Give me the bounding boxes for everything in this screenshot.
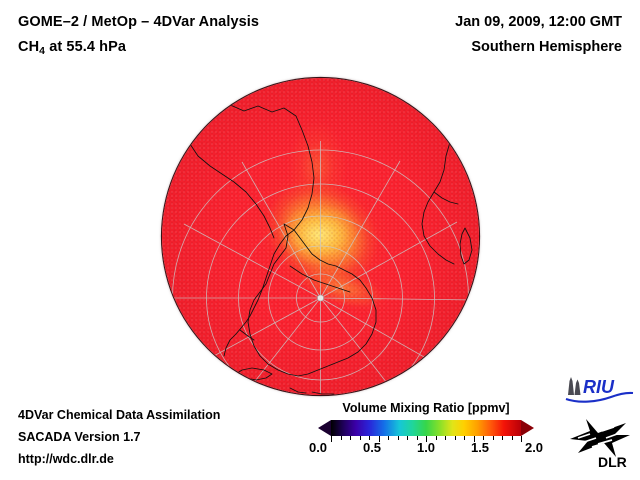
colorbar-extend-low-arrow (318, 420, 331, 436)
header-right: Jan 09, 2009, 12:00 GMT Southern Hemisph… (455, 14, 622, 55)
colorbar-tick-label: 2.0 (525, 440, 543, 455)
colorbar-gradient (331, 420, 521, 436)
graticule (165, 141, 476, 395)
colorbar-minor-tick (407, 436, 408, 440)
dlr-logo: DLR (568, 413, 634, 469)
colorbar-minor-tick (388, 436, 389, 440)
colorbar-legend: Volume Mixing Ratio [ppmv] 0.00.51.01.52… (318, 401, 534, 458)
pressure-level-label: at 55.4 hPa (45, 39, 126, 55)
colorbar-minor-tick (464, 436, 465, 440)
colorbar-minor-tick (341, 436, 342, 440)
riu-tower-icon (568, 377, 581, 395)
colorbar-minor-tick (350, 436, 351, 440)
hemisphere-label: Southern Hemisphere (455, 39, 622, 55)
species-label: CH (18, 39, 39, 55)
title-line-2: CH4 at 55.4 hPa (18, 39, 259, 57)
colorbar-minor-tick (436, 436, 437, 440)
south-pole-marker (317, 295, 323, 301)
map-overlay (162, 78, 479, 395)
colorbar-minor-tick (398, 436, 399, 440)
footer-line-1: 4DVar Chemical Data Assimilation (18, 404, 220, 426)
colorbar-title: Volume Mixing Ratio [ppmv] (318, 401, 534, 415)
timestamp-label: Jan 09, 2009, 12:00 GMT (455, 14, 622, 30)
colorbar-minor-tick (512, 436, 513, 440)
riu-logo: RIU (563, 373, 635, 403)
colorbar-minor-tick (360, 436, 361, 440)
riu-wordmark: RIU (583, 377, 615, 397)
footer-text: 4DVar Chemical Data Assimilation SACADA … (18, 404, 220, 470)
colorbar-tick-label: 0.0 (309, 440, 327, 455)
colorbar-tick-label: 1.0 (417, 440, 435, 455)
colorbar-minor-tick (369, 436, 370, 440)
colorbar-minor-tick (455, 436, 456, 440)
colorbar-minor-tick (417, 436, 418, 440)
colorbar-minor-tick (502, 436, 503, 440)
colorbar-tick-label: 0.5 (363, 440, 381, 455)
colorbar-row (318, 419, 534, 438)
colorbar-extend-high-arrow (521, 420, 534, 436)
colorbar-tick-labels: 0.00.51.01.52.0 (318, 440, 534, 458)
title-line-1: GOME–2 / MetOp – 4DVar Analysis (18, 14, 259, 30)
colorbar-minor-tick (445, 436, 446, 440)
map-panel (162, 78, 479, 395)
footer-url[interactable]: http://wdc.dlr.de (18, 448, 220, 470)
colorbar-tick-label: 1.5 (471, 440, 489, 455)
colorbar-minor-tick (493, 436, 494, 440)
dlr-wordmark: DLR (598, 454, 627, 469)
colorbar-minor-tick (483, 436, 484, 440)
header-left: GOME–2 / MetOp – 4DVar Analysis CH4 at 5… (18, 14, 259, 57)
globe-plot (162, 78, 479, 395)
footer-line-2: SACADA Version 1.7 (18, 426, 220, 448)
